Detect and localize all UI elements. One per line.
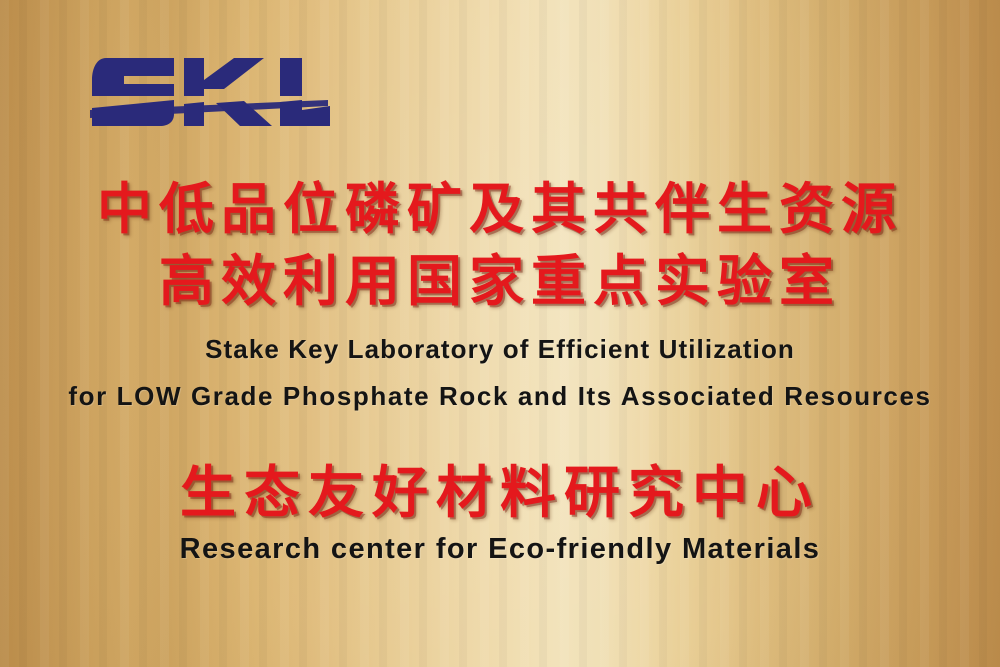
skl-logo-icon (88, 44, 332, 136)
lab-name-chinese-line-2: 高效利用国家重点实验室 (0, 246, 1000, 316)
center-name-chinese: 生态友好材料研究中心 (0, 460, 1000, 526)
skl-logo (88, 44, 332, 136)
name-plaque: 中低品位磷矿及其共伴生资源 高效利用国家重点实验室 Stake Key Labo… (0, 0, 1000, 667)
center-name-english: Research center for Eco-friendly Materia… (0, 533, 1000, 566)
lab-name-english-line-2: for LOW Grade Phosphate Rock and Its Ass… (0, 381, 1000, 412)
lab-name-chinese-line-1: 中低品位磷矿及其共伴生资源 (0, 174, 1000, 244)
lab-name-english-line-1: Stake Key Laboratory of Efficient Utiliz… (0, 334, 1000, 365)
plaque-content: 中低品位磷矿及其共伴生资源 高效利用国家重点实验室 Stake Key Labo… (0, 0, 1000, 667)
